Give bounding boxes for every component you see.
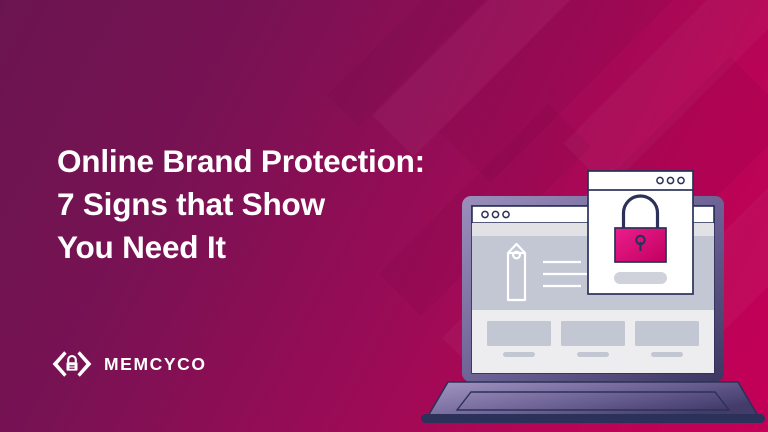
- action-button-pill: [614, 272, 667, 284]
- security-popup-card: [588, 171, 693, 294]
- memcyco-wordmark: MEMCYCO: [104, 354, 207, 375]
- memcyco-logo[interactable]: MEMCYCO: [51, 349, 207, 379]
- blog-header-banner: Online Brand Protection: 7 Signs that Sh…: [0, 0, 768, 432]
- memcyco-shield-lock-icon: [51, 349, 93, 379]
- laptop-brand-protection-illustration: [415, 150, 768, 432]
- laptop-base: [421, 382, 765, 423]
